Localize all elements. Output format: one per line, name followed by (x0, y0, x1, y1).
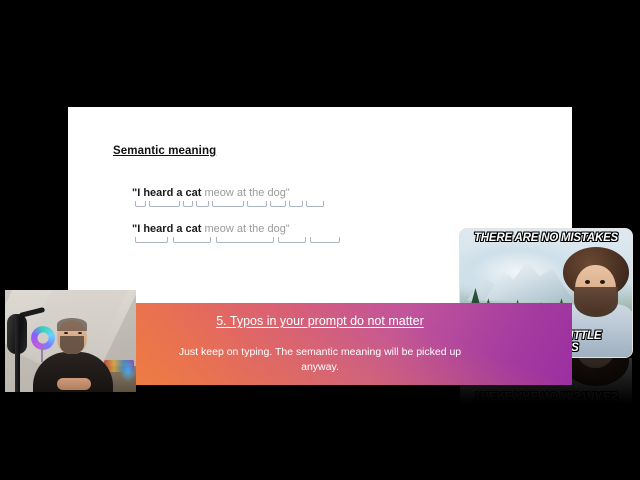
slide-title: Semantic meaning (113, 145, 216, 157)
quote-dark-text-1: "I heard a cat (132, 187, 201, 199)
presenter-webcam-overlay (5, 290, 136, 392)
token-bracket (247, 201, 267, 207)
token-bracket (216, 237, 274, 243)
token-bracket (135, 201, 146, 207)
token-bracket (135, 237, 168, 243)
token-brackets-2 (132, 237, 442, 246)
quote-grey-text-1: meow at the dog" (201, 187, 289, 199)
token-bracket (306, 201, 324, 207)
token-brackets-1 (132, 201, 442, 210)
blue-light-glow (120, 360, 136, 382)
quote-grey-text-2: meow at the dog" (201, 223, 289, 235)
quote-block: "I heard a cat meow at the dog" "I heard… (132, 187, 442, 259)
banner-body-text: Just keep on typing. The semantic meanin… (68, 345, 572, 375)
token-bracket (173, 237, 211, 243)
banner-body-line-1: Just keep on typing. The semantic meanin… (68, 345, 572, 360)
token-bracket (149, 201, 180, 207)
ring-logo-sign (31, 326, 55, 350)
presenter-hands (57, 378, 91, 390)
banner-heading: 5. Typos in your prompt do not matter (68, 314, 572, 328)
quote-text-2: "I heard a cat meow at the dog" (132, 223, 442, 236)
token-bracket (212, 201, 244, 207)
token-bracket (183, 201, 193, 207)
presenter-eye (78, 332, 82, 334)
quote-line-token-level: "I heard a cat meow at the dog" (132, 187, 442, 223)
presenter-eye (64, 332, 68, 334)
quote-dark-text-2: "I heard a cat (132, 223, 201, 235)
meme-top-caption: THERE ARE NO MISTAKES (460, 232, 632, 244)
screen-capture-frame: Semantic meaning "I heard a cat meow at … (0, 0, 640, 480)
token-bracket (278, 237, 306, 243)
presenter-beard (60, 336, 84, 354)
meme-top-caption: THERE ARE NO MISTAKES (460, 389, 632, 401)
logo-stand (41, 348, 43, 362)
token-bracket (270, 201, 286, 207)
quote-text-1: "I heard a cat meow at the dog" (132, 187, 442, 200)
lower-third-banner: 5. Typos in your prompt do not matter Ju… (68, 303, 572, 385)
banner-body-line-2: anyway. (68, 360, 572, 375)
microphone-stand (15, 316, 20, 392)
token-bracket (289, 201, 303, 207)
token-bracket (196, 201, 209, 207)
quote-line-word-level: "I heard a cat meow at the dog" (132, 223, 442, 259)
presentation-slide: Semantic meaning "I heard a cat meow at … (68, 107, 572, 304)
token-bracket (310, 237, 340, 243)
presenter-hair (57, 318, 87, 331)
